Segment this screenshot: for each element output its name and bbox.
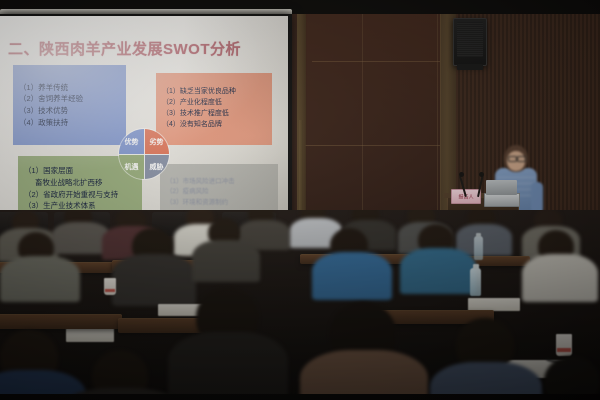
wheel-divider-vertical (144, 129, 145, 179)
handout-paper (66, 328, 114, 342)
strength-item: （4）政策扶持 (19, 117, 120, 129)
projection-screen: 二、陕西肉羊产业发展SWOT分析 （1）养羊传统 （2）舍饲养羊经验 （3）技术… (0, 16, 288, 223)
audience-shoulders-foreground (300, 350, 428, 400)
microphone-head-left (459, 172, 464, 177)
wheel-label-strengths: 优势 (125, 137, 139, 147)
audience-shoulders (112, 254, 196, 306)
opportunity-item: （2）省政府开始重视与支持 (24, 189, 136, 201)
audience-shoulders (312, 252, 392, 300)
weakness-item: （3）技术推广程度低 (162, 109, 266, 120)
laptop-lid (486, 180, 517, 195)
strength-item: （2）舍饲养羊经验 (19, 93, 120, 105)
water-bottle (474, 236, 483, 260)
lecture-hall-photo: 二、陕西肉羊产业发展SWOT分析 （1）养羊传统 （2）舍饲养羊经验 （3）技术… (0, 0, 600, 400)
paper-cup (556, 334, 572, 356)
wall-panel-left (305, 14, 441, 226)
panel-seam-vertical-2 (437, 14, 438, 226)
swot-box-strengths: （1）养羊传统 （2）舍饲养羊经验 （3）技术优势 （4）政策扶持 (13, 65, 126, 145)
threat-item: （2）疫病风险 (166, 187, 272, 197)
audience-shoulders-foreground (168, 332, 288, 400)
weakness-item: （4）没有知名品牌 (162, 120, 266, 131)
bottle-cap (473, 264, 479, 269)
bottle-cap (476, 233, 481, 237)
paper-cup (104, 278, 116, 295)
presenter-laptop (484, 193, 520, 207)
wheel-quadrant-weaknesses: 劣势 (144, 129, 169, 154)
glasses-icon (508, 156, 517, 162)
strength-item: （1）养羊传统 (19, 82, 120, 94)
audience-shoulders (522, 254, 598, 302)
chair-row-front (0, 314, 122, 329)
glasses-icon-right (517, 156, 526, 162)
audience-shoulders (192, 240, 260, 282)
speaker-mount (457, 64, 484, 70)
swot-wheel: 优势 劣势 机遇 威胁 (119, 129, 169, 179)
audience-shoulders (400, 248, 476, 294)
weakness-item: （1）缺乏当家优良品种 (162, 87, 266, 98)
threat-item: （3）环境和资源制约 (166, 198, 272, 208)
wheel-quadrant-opportunities: 机遇 (119, 154, 144, 179)
wheel-quadrant-threats: 威胁 (144, 154, 169, 179)
strength-item: （3）技术优势 (19, 105, 120, 117)
frame-bottom-edge (0, 394, 600, 400)
wheel-label-opportunities: 机遇 (125, 162, 139, 172)
microphone-head-right (479, 172, 484, 177)
wheel-label-threats: 威胁 (150, 162, 164, 172)
speaker-grill (457, 22, 483, 57)
panel-seam-vertical (362, 14, 363, 226)
cup-band (557, 348, 571, 352)
weakness-item: （2）产业化程度低 (162, 98, 266, 109)
panel-seam-top (312, 61, 440, 62)
presenter-head (504, 145, 528, 172)
swot-box-weaknesses: （1）缺乏当家优良品种 （2）产业化程度低 （3）技术推广程度低 （4）没有知名… (156, 73, 272, 145)
slide-title: 二、陕西肉羊产业发展SWOT分析 (8, 38, 241, 59)
wall-speaker (453, 18, 487, 66)
threat-item: （1）市场风险进口冲击 (166, 177, 272, 187)
audience-shoulders (0, 256, 80, 302)
wheel-quadrant-strengths: 优势 (119, 129, 144, 154)
panel-seam-mid (305, 145, 440, 146)
cup-band (105, 289, 115, 292)
wheel-label-weaknesses: 劣势 (150, 137, 164, 147)
audience-area (0, 210, 600, 400)
water-bottle (470, 268, 481, 296)
